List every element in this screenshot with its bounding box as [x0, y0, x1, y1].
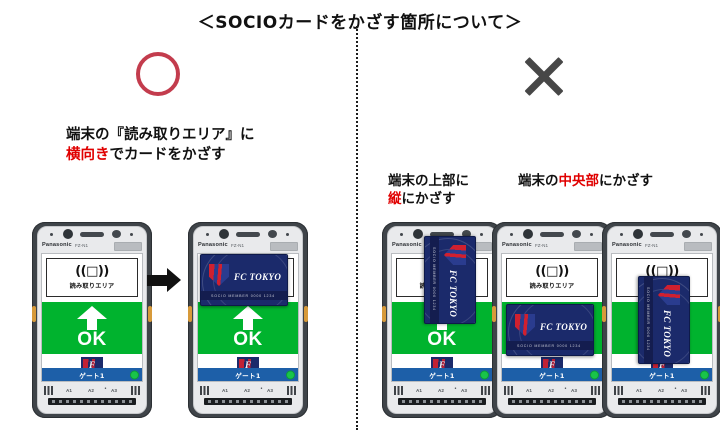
button-label-a1: A1: [222, 388, 228, 393]
brand-label: Panasonic: [198, 242, 228, 248]
nfc-icon: ((□)): [75, 265, 109, 278]
gate-bar: ゲート1: [198, 368, 298, 381]
phone-device-3: Panasonic FZ-N1 ((□)) 読み取りエリア OK F ゲート1: [382, 222, 502, 418]
card-brand-text: FC TOKYO: [234, 272, 281, 282]
cross-mark-icon: [522, 54, 566, 98]
caption-bad-top-line1: 端末の上部に: [388, 173, 469, 189]
caption-good: 端末の『読み取りエリア』に 横向きでカードをかざす: [66, 126, 255, 165]
brand-label: Panasonic: [612, 242, 642, 248]
phone-bottom-strip: [618, 398, 706, 405]
status-dot-icon: [286, 370, 295, 379]
page-title: ＜SOCIOカードをかざす箇所について＞: [0, 8, 720, 33]
ok-text: OK: [42, 329, 142, 351]
phone-bottom-strip: [48, 398, 136, 405]
button-label-a1: A1: [526, 388, 532, 393]
speaker-grille-right-icon: [701, 386, 710, 395]
speaker-grille-right-icon: [131, 386, 140, 395]
caption-bad-center-highlight: 中央部: [559, 173, 600, 189]
speaker-grille-left-icon: [614, 386, 623, 395]
speaker-grille-right-icon: [591, 386, 600, 395]
ok-text: OK: [392, 329, 492, 351]
button-label-a2: A2: [244, 388, 250, 393]
illustration-root: ＜SOCIOカードをかざす箇所について＞ 端末の『読み取りエリア』に 横向きでカ…: [0, 0, 720, 435]
phone-brand-row: Panasonic FZ-N1: [42, 242, 142, 251]
caption-good-line2: でカードをかざす: [110, 147, 226, 163]
card-emblem-icon: [515, 314, 535, 336]
button-label-a3: A3: [681, 388, 687, 393]
gate-bar: ゲート1: [392, 368, 492, 381]
side-nub-left-icon: [602, 306, 606, 322]
button-label-a1: A1: [416, 388, 422, 393]
phone-button-row: A1 A2 • A3: [392, 385, 492, 397]
gate-label: ゲート1: [649, 370, 675, 380]
circle-mark-icon: [136, 52, 180, 96]
section-divider: [356, 26, 358, 430]
side-nub-left-icon: [492, 306, 496, 322]
carrier-logo-icon: [114, 242, 142, 251]
phone-brand-row: Panasonic FZ-N1: [198, 242, 298, 251]
socio-card-horizontal: FC TOKYO SOCIO MEMBER 0000 1234: [200, 254, 288, 306]
side-nub-right-icon: [304, 306, 308, 322]
caption-bad-top-line2: にかざす: [402, 191, 456, 207]
side-nub-left-icon: [382, 306, 386, 322]
socio-card-vertical-center: FC TOKYO SOCIO MEMBER 0000 1234: [638, 276, 690, 364]
speaker-grille-left-icon: [200, 386, 209, 395]
center-dot-icon: •: [564, 386, 567, 392]
caption-good-line1: 端末の『読み取りエリア』に: [66, 127, 255, 143]
button-label-a2: A2: [88, 388, 94, 393]
caption-bad-center-prefix: 端末の: [518, 173, 559, 189]
caption-good-highlight: 横向き: [66, 147, 110, 163]
card-strip-text: SOCIO MEMBER 0000 1234: [432, 247, 436, 311]
brand-label: Panasonic: [392, 242, 422, 248]
button-label-a3: A3: [461, 388, 467, 393]
carrier-logo-icon: [574, 242, 602, 251]
card-emblem-icon: [658, 285, 680, 305]
button-label-a2: A2: [438, 388, 444, 393]
status-dot-icon: [590, 370, 599, 379]
speaker-grille-right-icon: [287, 386, 296, 395]
center-dot-icon: •: [260, 386, 263, 392]
gate-label: ゲート1: [235, 370, 261, 380]
status-dot-icon: [700, 370, 709, 379]
phone-screen-1: ((□)) 読み取りエリア OK F ゲート1: [41, 253, 143, 382]
center-dot-icon: •: [674, 386, 677, 392]
gate-label: ゲート1: [539, 370, 565, 380]
flow-arrow-icon: [147, 268, 181, 292]
phone-top-hardware: [616, 229, 708, 240]
carrier-logo-icon: [270, 242, 298, 251]
card-brand-text: FC TOKYO: [448, 270, 458, 317]
caption-bad-top: 端末の上部に 縦にかざす: [388, 172, 469, 208]
phone-top-hardware: [202, 229, 294, 240]
center-dot-icon: •: [454, 386, 457, 392]
socio-card-horizontal-center: FC TOKYO SOCIO MEMBER 0000 1234: [506, 304, 594, 356]
caption-bad-center-suffix: にかざす: [599, 173, 653, 189]
button-label-a3: A3: [571, 388, 577, 393]
model-label: FZ-N1: [231, 243, 244, 248]
phone-device-5: Panasonic FZ-N1 ((□)) 読み取りエリア OK F ゲート1: [602, 222, 720, 418]
card-strip-text: SOCIO MEMBER 0000 1234: [517, 344, 581, 348]
card-emblem-icon: [209, 264, 229, 286]
ok-text: OK: [198, 329, 298, 351]
model-label: FZ-N1: [75, 243, 88, 248]
button-label-a3: A3: [267, 388, 273, 393]
status-dot-icon: [480, 370, 489, 379]
button-label-a1: A1: [636, 388, 642, 393]
side-nub-right-icon: [148, 306, 152, 322]
phone-brand-row: Panasonic FZ-N1: [502, 242, 602, 251]
speaker-grille-right-icon: [481, 386, 490, 395]
up-arrow-icon: [233, 306, 263, 330]
read-area-label: 読み取りエリア: [70, 281, 115, 290]
phone-button-row: A1 A2 • A3: [198, 385, 298, 397]
speaker-grille-left-icon: [504, 386, 513, 395]
model-label: FZ-N1: [535, 243, 548, 248]
gate-bar: ゲート1: [502, 368, 602, 381]
phone-button-row: A1 A2 • A3: [612, 385, 712, 397]
ok-panel: OK: [42, 302, 142, 354]
gate-label: ゲート1: [429, 370, 455, 380]
nfc-icon: ((□)): [535, 265, 569, 278]
side-nub-left-icon: [32, 306, 36, 322]
card-brand-text: FC TOKYO: [662, 310, 672, 357]
center-dot-icon: •: [104, 386, 107, 392]
phone-device-1: Panasonic FZ-N1 ((□)) 読み取りエリア OK F ゲート1: [32, 222, 152, 418]
side-nub-left-icon: [188, 306, 192, 322]
gate-bar: ゲート1: [612, 368, 712, 381]
read-area-box: ((□)) 読み取りエリア: [506, 258, 598, 297]
phone-bottom-strip: [204, 398, 292, 405]
speaker-grille-left-icon: [44, 386, 53, 395]
phone-brand-row: Panasonic FZ-N1: [612, 242, 712, 251]
phone-top-hardware: [506, 229, 598, 240]
gate-bar: ゲート1: [42, 368, 142, 381]
read-area-label: 読み取りエリア: [530, 281, 575, 290]
button-label-a3: A3: [111, 388, 117, 393]
phone-device-2: Panasonic FZ-N1 ((□)) 読み取りエリア OK F ゲート1: [188, 222, 308, 418]
card-emblem-icon: [444, 245, 466, 265]
button-label-a2: A2: [658, 388, 664, 393]
phone-top-hardware: [46, 229, 138, 240]
gate-label: ゲート1: [79, 370, 105, 380]
card-brand-text: FC TOKYO: [540, 322, 587, 332]
phone-button-row: A1 A2 • A3: [42, 385, 142, 397]
socio-card-vertical-top: FC TOKYO SOCIO MEMBER 0000 1234: [424, 236, 476, 324]
speaker-grille-left-icon: [394, 386, 403, 395]
phone-device-4: Panasonic FZ-N1 ((□)) 読み取りエリア OK F ゲート1: [492, 222, 612, 418]
caption-bad-center: 端末の中央部にかざす: [518, 172, 653, 190]
ok-panel: OK: [198, 302, 298, 354]
status-dot-icon: [130, 370, 139, 379]
up-arrow-icon: [77, 306, 107, 330]
caption-bad-top-highlight: 縦: [388, 191, 402, 207]
card-strip-text: SOCIO MEMBER 0000 1234: [646, 287, 650, 351]
button-label-a1: A1: [66, 388, 72, 393]
read-area-box: ((□)) 読み取りエリア: [46, 258, 138, 297]
button-label-a2: A2: [548, 388, 554, 393]
carrier-logo-icon: [684, 242, 712, 251]
brand-label: Panasonic: [42, 242, 72, 248]
phone-bottom-strip: [398, 398, 486, 405]
phone-button-row: A1 A2 • A3: [502, 385, 602, 397]
model-label: FZ-N1: [645, 243, 658, 248]
phone-bottom-strip: [508, 398, 596, 405]
brand-label: Panasonic: [502, 242, 532, 248]
card-strip-text: SOCIO MEMBER 0000 1234: [211, 294, 275, 298]
